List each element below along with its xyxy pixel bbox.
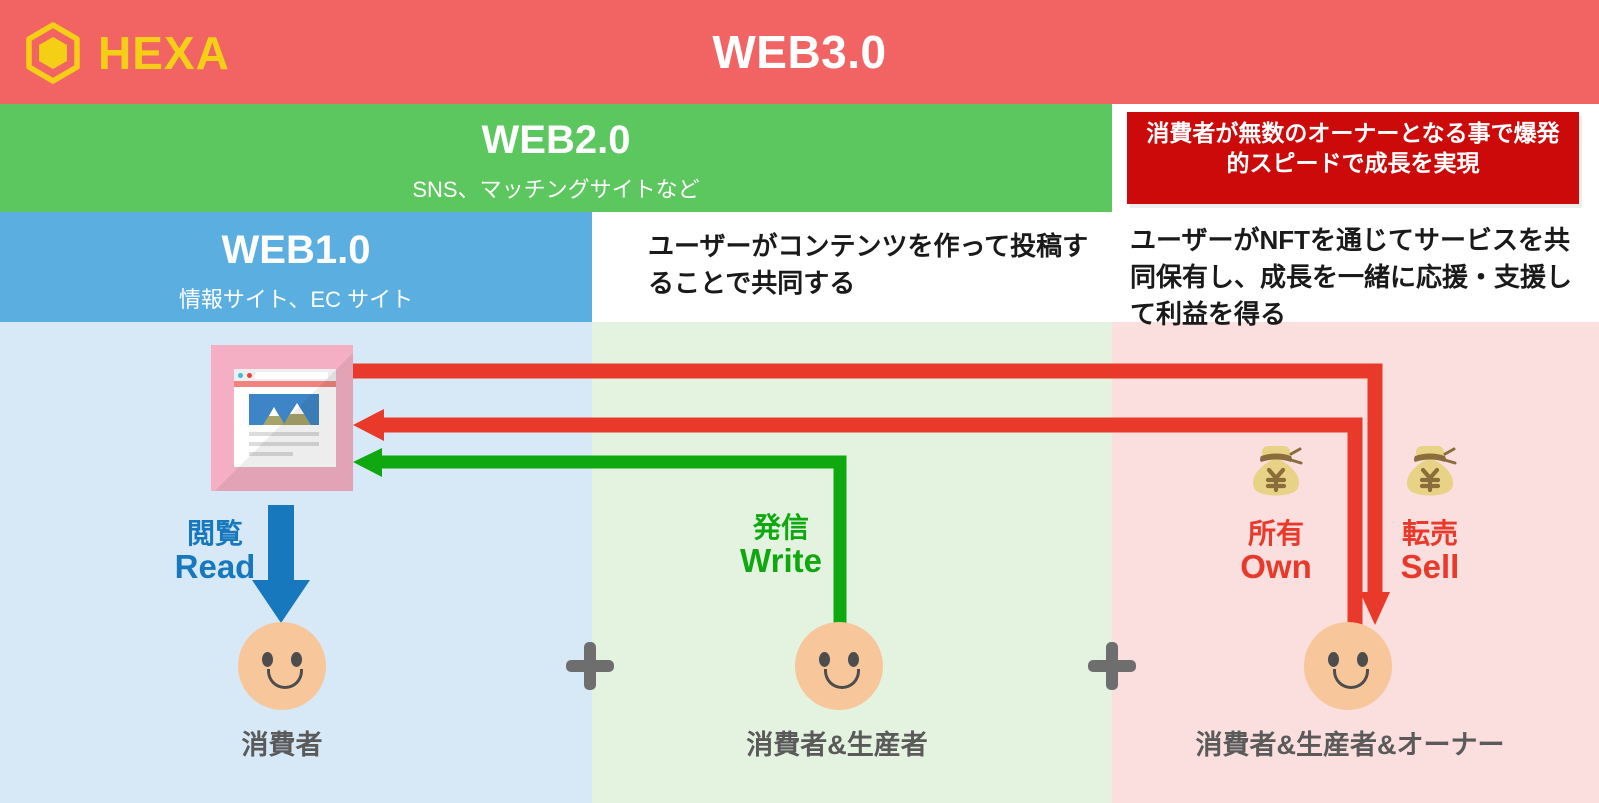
web2-title: WEB2.0	[0, 118, 1112, 163]
plus-icon	[566, 642, 614, 690]
role-label-web3: 消費者&生産者&オーナー	[1160, 723, 1540, 762]
person-icon	[795, 622, 883, 710]
eye-icon	[1328, 652, 1339, 667]
browser-card-shadow	[211, 345, 353, 491]
action-label-read: 閲覧 Read	[150, 518, 280, 586]
action-label-own-jp: 所有	[1212, 518, 1340, 549]
action-label-own-en: Own	[1212, 549, 1340, 586]
browser-window-icon	[211, 345, 353, 491]
money-bag-icon	[1248, 438, 1304, 500]
role-label-web2: 消費者&生産者	[702, 723, 972, 762]
action-label-sell-jp: 転売	[1366, 518, 1494, 549]
action-label-sell-en: Sell	[1366, 549, 1494, 586]
action-label-write-en: Write	[716, 543, 846, 580]
action-label-own: 所有 Own	[1212, 518, 1340, 586]
money-bag-icon	[1402, 438, 1458, 500]
smile-icon	[1333, 669, 1369, 689]
eye-icon	[848, 652, 859, 667]
brand-name: HEXA	[98, 26, 230, 80]
action-label-sell: 転売 Sell	[1366, 518, 1494, 586]
infographic-canvas: WEB3.0 HEXA WEB2.0 SNS、マッチングサイトなど WEB1.0…	[0, 0, 1599, 803]
callout-box: 消費者が無数のオーナーとなる事で爆発的スピードで成長を実現	[1127, 112, 1579, 204]
smile-icon	[824, 669, 860, 689]
action-label-read-en: Read	[150, 549, 280, 586]
eye-icon	[291, 652, 302, 667]
smile-icon	[267, 669, 303, 689]
description-web3: ユーザーがNFTを通じてサービスを共同保有し、成長を一緒に応援・支援して利益を得…	[1130, 222, 1580, 333]
action-label-write-jp: 発信	[716, 512, 846, 543]
web3-title: WEB3.0	[0, 0, 1599, 104]
brand-logo[interactable]: HEXA	[22, 22, 230, 84]
hexagon-icon	[22, 22, 84, 84]
band-web1: WEB1.0 情報サイト、EC サイト	[0, 212, 592, 322]
action-label-write: 発信 Write	[716, 512, 846, 580]
person-icon	[1304, 622, 1392, 710]
plus-icon	[1088, 642, 1136, 690]
web1-title: WEB1.0	[0, 228, 592, 273]
description-web2: ユーザーがコンテンツを作って投稿することで共同する	[648, 228, 1108, 302]
web2-subtitle: SNS、マッチングサイトなど	[0, 172, 1112, 204]
eye-icon	[1357, 652, 1368, 667]
eye-icon	[262, 652, 273, 667]
web1-subtitle: 情報サイト、EC サイト	[0, 282, 592, 314]
band-web2: WEB2.0 SNS、マッチングサイトなど	[0, 104, 1112, 212]
person-icon	[238, 622, 326, 710]
eye-icon	[819, 652, 830, 667]
role-label-web1: 消費者	[132, 723, 432, 762]
action-label-read-jp: 閲覧	[150, 518, 280, 549]
